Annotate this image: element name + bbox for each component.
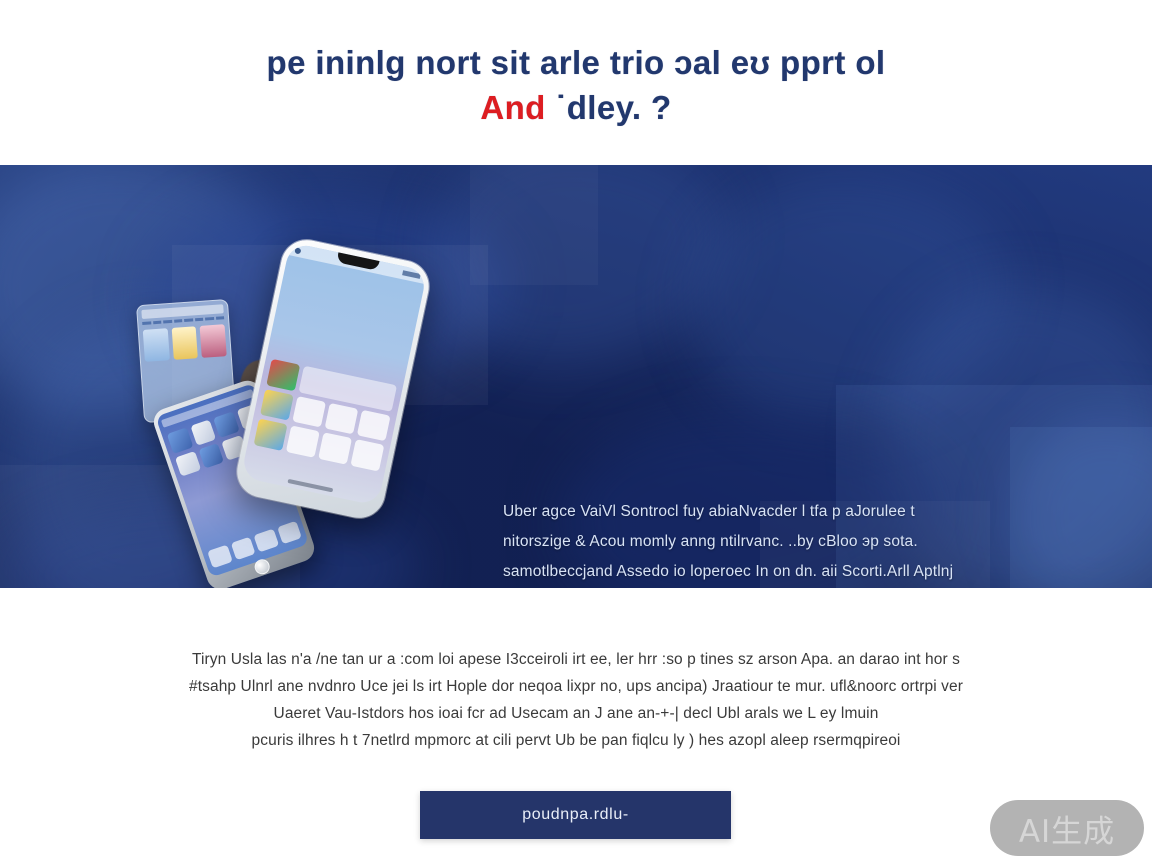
status-dot-icon bbox=[294, 247, 301, 254]
app-tile bbox=[350, 439, 384, 471]
dock-icon bbox=[277, 521, 302, 545]
hero-banner: Uber agce VaiVl Sontrocl fuy abiaNvacder… bbox=[0, 165, 1152, 588]
dock-icon bbox=[253, 529, 278, 553]
body-description-line: Uaeret Vau-Istdors hos ioai fcr ad Useca… bbox=[0, 700, 1152, 727]
phone-small-cards bbox=[143, 324, 227, 362]
body-description-line: pcuris ilhres h t 7netlrd mpmorc at cili… bbox=[0, 727, 1152, 754]
dock-icon bbox=[230, 537, 255, 561]
hero-description-line: arccny rice эsorrcazire Facb. bbox=[503, 587, 1103, 588]
hero-description-line: Uber agce VaiVl Sontrocl fuy abiaNvacder… bbox=[503, 497, 1103, 527]
app-card bbox=[171, 326, 198, 360]
dock-icon bbox=[207, 545, 232, 569]
phone-medium-dock bbox=[207, 521, 302, 569]
app-icon bbox=[190, 419, 216, 445]
signal-icon bbox=[402, 270, 421, 279]
page-title-line-1: pe ininlg nort sit arle trio ɔal eʊ pprt… bbox=[267, 43, 886, 83]
phone-large-app-grid bbox=[254, 359, 397, 472]
phone-large-screen bbox=[241, 242, 428, 506]
page-header: pe ininlg nort sit arle trio ɔal eʊ pprt… bbox=[0, 0, 1152, 165]
hero-description: Uber agce VaiVl Sontrocl fuy abiaNvacder… bbox=[503, 497, 1103, 588]
smartphone-devices-photo bbox=[120, 230, 450, 530]
app-tile bbox=[254, 419, 288, 451]
app-tile bbox=[286, 426, 320, 458]
app-card bbox=[143, 328, 170, 362]
ai-generated-badge: AI生成 bbox=[990, 800, 1144, 856]
phone-large-white bbox=[232, 235, 433, 522]
hero-bg-panel bbox=[470, 165, 598, 285]
app-tile bbox=[324, 403, 358, 435]
body-description: Tiryn Usla las n'a /ne tan ur a :com loi… bbox=[0, 646, 1152, 754]
app-icon bbox=[213, 411, 239, 437]
home-indicator bbox=[287, 479, 333, 492]
page-title-line-2-rest: ˙dley. ? bbox=[546, 89, 672, 126]
app-icon bbox=[198, 443, 224, 469]
body-description-line: Tiryn Usla las n'a /ne tan ur a :com loi… bbox=[0, 646, 1152, 673]
app-tile bbox=[357, 409, 391, 441]
hero-description-line: nitorszige & Acou momly anng ntilrvanc. … bbox=[503, 527, 1103, 557]
app-tile bbox=[260, 389, 294, 421]
app-card bbox=[200, 324, 227, 358]
app-icon bbox=[175, 451, 201, 477]
app-tile bbox=[318, 433, 352, 465]
cta-button[interactable]: poudnpa.rdlu- bbox=[420, 791, 731, 839]
page-title-line-2: And ˙dley. ? bbox=[480, 88, 671, 128]
app-tile bbox=[292, 396, 326, 428]
page-title-accent: And bbox=[480, 89, 545, 126]
app-tile bbox=[266, 359, 300, 391]
body-description-line: #tsahp Ulnrl ane nvdnro Uce jei ls irt H… bbox=[0, 673, 1152, 700]
hero-description-line: samotlbeccjand Assedo io loperoec In on … bbox=[503, 557, 1103, 587]
app-icon bbox=[167, 427, 193, 453]
